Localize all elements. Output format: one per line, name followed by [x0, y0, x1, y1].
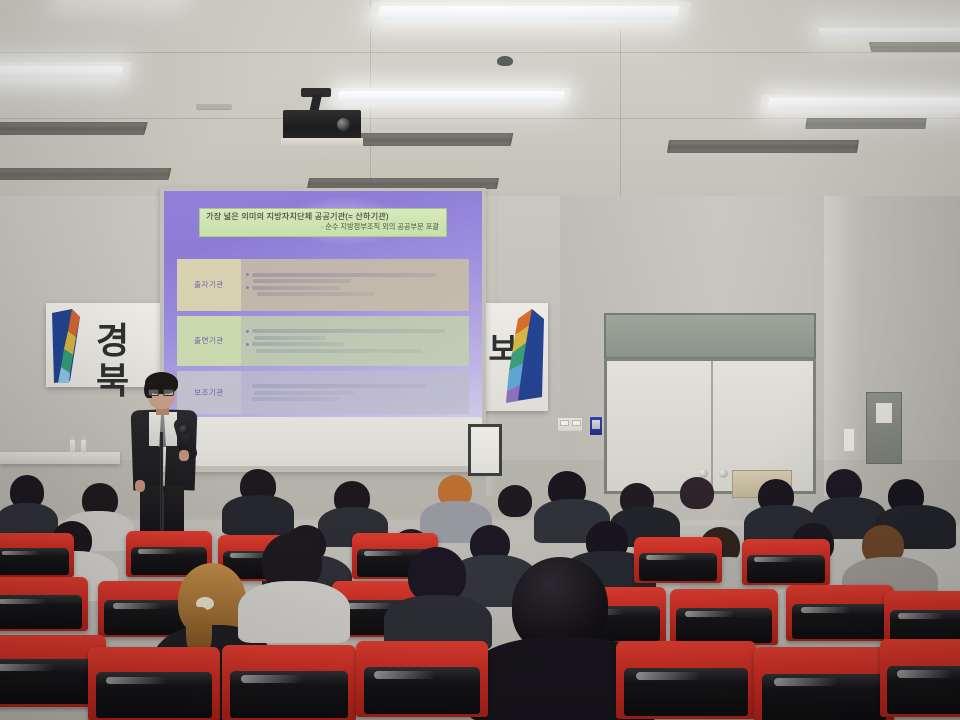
slide-row-2: 출연기관: [177, 316, 470, 366]
bullet-icon: [246, 398, 249, 401]
ceiling-light: [376, 6, 681, 20]
seat-highlight: [754, 557, 794, 562]
light-switch[interactable]: [572, 420, 581, 426]
seat-highlight: [113, 603, 162, 609]
banner-left-ribbon-icon: [50, 307, 92, 385]
control-panel-display: [592, 420, 600, 429]
slide-text-line: [252, 273, 436, 277]
projector-lens-icon: [337, 118, 350, 131]
slide-text-line: [257, 292, 374, 296]
slide-text-line: [254, 391, 355, 395]
ceiling-vent: [667, 140, 859, 153]
lecture-hall-scene: 경북 정보 가장 넓은 의미의 지방자치단체 공공기관(= 산하기관) · 순수…: [0, 0, 960, 720]
seat-highlight: [897, 670, 952, 678]
auditorium-seat: [356, 641, 488, 717]
audience-area: [0, 455, 960, 720]
slide-title-band: 가장 넓은 의미의 지방자치단체 공공기관(= 산하기관) · 순수 지방정부조…: [199, 208, 447, 237]
auditorium-seat: [0, 533, 74, 577]
ceiling-vent: [0, 122, 148, 135]
ceiling-hook: [196, 104, 232, 109]
slide-row-1-body: [241, 259, 469, 311]
smoke-detector-icon: [497, 56, 513, 66]
slide-text-line: [254, 336, 326, 340]
ceiling-light: [58, 0, 182, 2]
seat-highlight: [241, 675, 303, 683]
slide-text-line: [252, 329, 445, 333]
illuminated-control-panel[interactable]: [589, 416, 603, 436]
auditorium-seat: [742, 539, 830, 585]
projection-screen: 가장 넓은 의미의 지방자치단체 공공기관(= 산하기관) · 순수 지방정부조…: [164, 191, 482, 466]
seat-highlight: [138, 549, 178, 554]
bullet-icon: [246, 385, 249, 388]
auditorium-seat: [754, 647, 894, 720]
banner-right-ribbon-icon: [496, 305, 548, 407]
seat-highlight: [636, 672, 700, 680]
slide-row-1-tag: 출자기관: [177, 259, 241, 311]
door-transom-window: [604, 313, 816, 359]
ceiling-vent: [0, 168, 171, 180]
seat-highlight: [364, 551, 404, 556]
audience-head: [498, 485, 532, 517]
auditorium-seat: [616, 641, 756, 719]
seat-highlight: [106, 677, 167, 684]
wall-switch-plate: [557, 417, 583, 432]
bullet-icon: [246, 343, 249, 346]
auditorium-seat: [634, 537, 722, 583]
slide-row-3: 보조기관: [177, 371, 470, 414]
slide-text-line: [252, 342, 344, 346]
projector-stem: [319, 148, 326, 157]
seat-highlight: [0, 664, 54, 671]
seat-highlight: [801, 607, 851, 613]
slide-text-line: [252, 384, 427, 388]
audience-shoulders: [222, 495, 294, 535]
slide-text-line: [252, 397, 340, 401]
auditorium-seat: [0, 577, 88, 631]
seat-highlight: [0, 599, 46, 604]
auditorium-seat: [670, 589, 778, 645]
ceiling-light: [818, 28, 960, 38]
wall-panel-label: [876, 403, 892, 423]
seat-highlight: [374, 671, 435, 679]
slide-text-line: [253, 279, 351, 283]
seat-highlight: [774, 678, 838, 686]
light-switch[interactable]: [560, 420, 569, 426]
water-bottle: [81, 440, 86, 453]
slide-text-line: [256, 349, 423, 353]
bullet-icon: [246, 330, 249, 333]
ceiling-light: [337, 91, 566, 102]
seat-highlight: [685, 611, 735, 617]
auditorium-seat: [786, 585, 894, 641]
ceiling-vent: [805, 118, 927, 129]
seat-highlight: [2, 551, 41, 555]
projector-base: [281, 138, 363, 148]
microphone-head-icon: [179, 425, 189, 434]
ceiling-light: [767, 98, 960, 109]
seat-highlight: [646, 555, 686, 560]
ceiling-light: [0, 66, 123, 78]
audience-head: [680, 477, 714, 509]
ceiling: [0, 0, 960, 200]
ceiling-vent: [869, 42, 960, 52]
audience-shoulders: [238, 581, 350, 643]
auditorium-seat: [222, 645, 356, 720]
wall-notice: [843, 428, 855, 452]
presentation-slide: 가장 넓은 의미의 지방자치단체 공공기관(= 산하기관) · 순수 지방정부조…: [164, 191, 482, 417]
water-bottle: [70, 440, 75, 453]
auditorium-seat: [880, 639, 960, 717]
slide-row-1: 출자기관: [177, 259, 470, 311]
auditorium-seat: [88, 647, 220, 720]
glasses-icon: [148, 389, 175, 396]
bullet-icon: [246, 273, 249, 276]
slide-row-3-body: [241, 371, 469, 414]
slide-row-2-body: [241, 316, 469, 366]
bullet-icon: [246, 286, 249, 289]
seat-highlight: [898, 613, 944, 619]
slide-title-main: 가장 넓은 의미의 지방자치단체 공공기관(= 산하기관): [206, 212, 441, 222]
wall-utility-panel: [866, 392, 902, 464]
slide-row-2-tag: 출연기관: [177, 316, 241, 366]
slide-text-line: [252, 286, 340, 290]
slide-title-sub: · 순수 지방정부조직 외의 공공부문 포괄: [206, 222, 441, 231]
